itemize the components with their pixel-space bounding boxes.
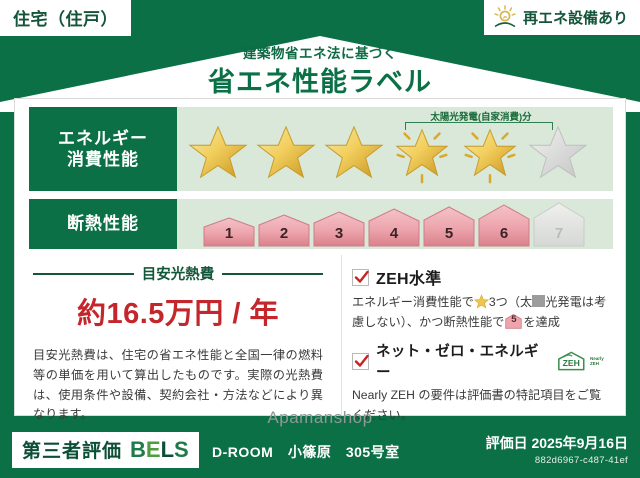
zeh-desc-part1: エネルギー消費性能で	[352, 295, 474, 309]
sun-solar-icon	[492, 5, 518, 29]
solar-annotation-text: 太陽光発電(自家消費)分	[391, 109, 571, 123]
net-zero-energy-title: ネット・ゼロ・エネルギー	[376, 340, 546, 382]
star-filled	[323, 122, 385, 184]
insulation-level-filled: 4	[368, 208, 420, 247]
net-zero-energy-heading: ネット・ゼロ・エネルギー ZEH Nearly ZEH	[352, 340, 613, 382]
bels-letter-l: L	[161, 437, 174, 462]
star-icon	[474, 294, 489, 309]
insulation-level-filled: 3	[313, 211, 365, 247]
bels-letter-e: E	[146, 437, 161, 462]
energy-star-rating	[177, 122, 589, 184]
insulation-level-filled: 5	[423, 206, 475, 247]
svg-text:ZEH: ZEH	[563, 358, 580, 368]
insulation-level-number: 3	[335, 225, 343, 247]
rule-left	[33, 273, 134, 275]
insulation-level-number: 1	[225, 225, 233, 247]
zeh-standard-block: ZEH水準 エネルギー消費性能で3つ（太光発電は考慮しない）、かつ断熱性能で5を…	[352, 265, 613, 332]
zeh-column: ZEH水準 エネルギー消費性能で3つ（太光発電は考慮しない）、かつ断熱性能で5を…	[341, 255, 627, 415]
zeh-house-icon: ZEH	[555, 350, 588, 372]
energy-rating-area: 太陽光発電(自家消費)分	[177, 107, 613, 191]
evaluation-id: 882d6967-c487-41ef	[486, 455, 628, 466]
checkbox-checked	[352, 353, 369, 370]
insulation-performance-row: 断熱性能 1	[29, 199, 613, 249]
net-zero-energy-description: Nearly ZEH の要件は評価書の特記項目をご覧ください。	[352, 386, 613, 425]
zeh-logo-badge: ZEH Nearly ZEH	[555, 350, 613, 372]
footer-bar: 第三者評価 BELS D-ROOM 小篠原 305号室 評価日 2025年9月1…	[0, 424, 640, 478]
zeh-standard-title: ZEH水準	[376, 265, 442, 289]
energy-label-line2: 消費性能	[67, 149, 139, 170]
label-card: エネルギー 消費性能 太陽光発電(自家消費)分	[14, 98, 626, 416]
evaluation-info: 評価日 2025年9月16日 882d6967-c487-41ef	[486, 433, 628, 466]
evaluation-date: 評価日 2025年9月16日	[486, 433, 628, 453]
check-icon	[354, 270, 369, 285]
energy-label-root: 住宅（住戸） 再エネ設備あり 建築物省エネ法に基づく 省エネ性能ラベル	[0, 0, 640, 478]
zeh-desc-part4: を達成	[523, 315, 560, 329]
insulation-level-number: 2	[280, 225, 288, 247]
label-title: 省エネ性能ラベル	[0, 60, 640, 99]
renewable-equipment-chip: 再エネ設備あり	[484, 0, 640, 35]
net-zero-energy-block: ネット・ゼロ・エネルギー ZEH Nearly ZEH Nearly ZEH の…	[352, 340, 613, 425]
insulation-level-filled: 6	[478, 204, 530, 247]
star-empty	[527, 122, 589, 184]
insulation-level-number: 4	[390, 225, 398, 247]
star-filled-solar	[459, 122, 521, 184]
zeh-standard-heading: ZEH水準	[352, 265, 613, 289]
zeh-standard-description: エネルギー消費性能で3つ（太光発電は考慮しない）、かつ断熱性能で5を達成	[352, 293, 613, 332]
energy-performance-row: エネルギー 消費性能 太陽光発電(自家消費)分	[29, 107, 613, 191]
insulation-rating-area: 1 2 3	[177, 199, 613, 249]
insulation-level-filled: 2	[258, 214, 310, 247]
inline-level-number: 5	[505, 314, 522, 329]
energy-label-line1: エネルギー	[58, 128, 148, 149]
star-filled-solar	[391, 122, 453, 184]
utility-cost-note: 目安光熱費は、住宅の省エネ性能と全国一律の燃料等の単価を用いて算出したものです。…	[33, 346, 323, 425]
rule-right	[222, 273, 323, 275]
utility-cost-heading-text: 目安光熱費	[142, 263, 215, 284]
zeh-badge-subtext: Nearly ZEH	[590, 356, 613, 366]
bels-en-label: BELS	[130, 437, 189, 463]
star-filled	[187, 122, 249, 184]
check-icon	[354, 354, 369, 369]
bels-letter-b: B	[130, 437, 146, 462]
renewable-equipment-label: 再エネ設備あり	[523, 7, 628, 28]
utility-cost-column: 目安光熱費 約16.5万円 / 年 目安光熱費は、住宅の省エネ性能と全国一律の燃…	[15, 255, 341, 415]
insulation-level-empty: 7	[533, 202, 585, 247]
bels-logo: 第三者評価 BELS	[12, 432, 199, 468]
energy-performance-label: エネルギー 消費性能	[29, 107, 177, 191]
bels-jp-label: 第三者評価	[22, 436, 122, 463]
insulation-level-number: 6	[500, 225, 508, 247]
label-subtitle: 建築物省エネ法に基づく	[0, 42, 640, 62]
utility-cost-value: 約16.5万円 / 年	[33, 290, 323, 332]
dwelling-type-chip: 住宅（住戸）	[0, 0, 131, 36]
redacted-character	[532, 295, 545, 307]
insulation-level-inline-badge: 5	[505, 314, 522, 329]
insulation-level-number: 7	[555, 225, 563, 247]
details-section: 目安光熱費 約16.5万円 / 年 目安光熱費は、住宅の省エネ性能と全国一律の燃…	[15, 255, 627, 415]
zeh-desc-part2: 3つ（太	[489, 295, 532, 309]
insulation-level-filled: 1	[203, 217, 255, 247]
insulation-level-scale: 1 2 3	[177, 202, 585, 247]
insulation-performance-label: 断熱性能	[29, 199, 177, 249]
dwelling-type-label: 住宅（住戸）	[13, 10, 118, 29]
insulation-label-text: 断熱性能	[67, 213, 139, 234]
star-filled	[255, 122, 317, 184]
utility-cost-heading: 目安光熱費	[33, 263, 323, 284]
property-address: D-ROOM 小篠原 305号室	[212, 442, 400, 462]
bels-letter-s: S	[174, 437, 189, 462]
checkbox-checked	[352, 269, 369, 286]
insulation-level-number: 5	[445, 225, 453, 247]
